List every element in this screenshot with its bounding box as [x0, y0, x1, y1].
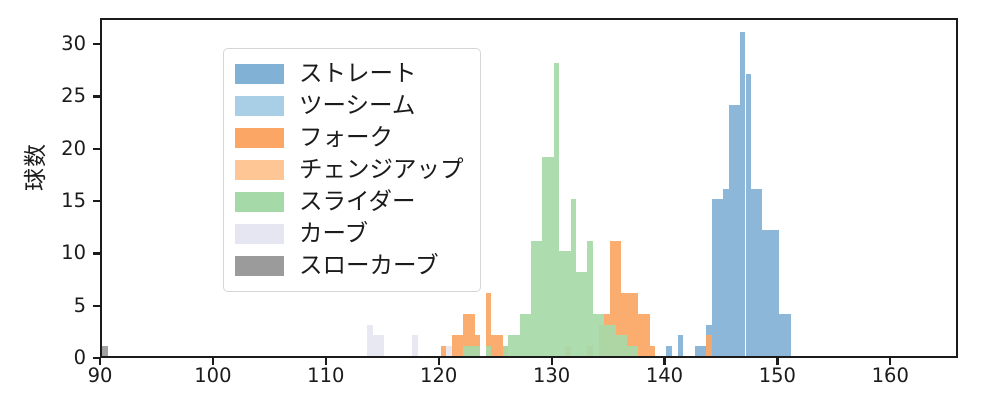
x-axis-tick-label: 110: [286, 366, 366, 386]
legend-color-swatch: [235, 192, 284, 212]
legend-color-swatch: [235, 128, 284, 148]
y-axis-tick-label: 0: [0, 348, 86, 368]
legend-item-label: フォーク: [299, 126, 393, 150]
y-axis-tick-label: 25: [0, 86, 86, 106]
legend-color-swatch: [235, 256, 284, 276]
legend-item[interactable]: フォーク: [235, 122, 464, 154]
x-axis-tick-mark: [663, 358, 665, 365]
x-axis-tick-label: 150: [737, 366, 817, 386]
y-axis-tick-mark: [93, 95, 100, 97]
plot-area: ストレートツーシームフォークチェンジアップスライダーカーブスローカーブ: [100, 18, 958, 358]
legend-item-label: ストレート: [299, 62, 417, 86]
legend-item-label: カーブ: [299, 222, 368, 246]
histogram-bar: [706, 335, 712, 356]
histogram-bar: [379, 335, 385, 356]
legend-item[interactable]: ツーシーム: [235, 90, 464, 122]
x-axis-tick-mark: [438, 358, 440, 365]
histogram-bar: [412, 335, 418, 356]
legend-item[interactable]: カーブ: [235, 218, 464, 250]
y-axis-tick-label: 10: [0, 243, 86, 263]
x-axis-tick-label: 130: [512, 366, 592, 386]
histogram-bar: [650, 346, 656, 356]
legend-item-label: チェンジアップ: [299, 158, 464, 182]
histogram-bar: [446, 346, 452, 356]
legend-item[interactable]: スライダー: [235, 186, 464, 218]
legend-color-swatch: [235, 224, 284, 244]
y-axis-tick-mark: [93, 148, 100, 150]
legend: ストレートツーシームフォークチェンジアップスライダーカーブスローカーブ: [223, 48, 481, 292]
histogram-bar: [102, 346, 108, 356]
legend-item-label: スライダー: [299, 190, 416, 214]
x-axis-tick-label: 160: [850, 366, 930, 386]
x-axis-tick-mark: [551, 358, 553, 365]
y-axis-tick-mark: [93, 43, 100, 45]
x-axis-tick-mark: [889, 358, 891, 365]
legend-color-swatch: [235, 96, 284, 116]
histogram-bar: [678, 335, 684, 356]
histogram-bar: [475, 346, 481, 356]
y-axis-tick-mark: [93, 252, 100, 254]
histogram-chart: 球数 051015202530 90100110120130140150160 …: [0, 0, 1000, 400]
legend-color-swatch: [235, 64, 284, 84]
x-axis-tick-mark: [325, 358, 327, 365]
legend-item[interactable]: チェンジアップ: [235, 154, 464, 186]
histogram-bar: [486, 346, 492, 356]
y-axis-tick-mark: [93, 200, 100, 202]
x-axis-tick-label: 140: [624, 366, 704, 386]
y-axis-tick-label: 20: [0, 139, 86, 159]
y-axis-tick-mark: [93, 305, 100, 307]
x-axis-tick-mark: [212, 358, 214, 365]
legend-item[interactable]: スローカーブ: [235, 250, 464, 282]
x-axis-tick-mark: [776, 358, 778, 365]
x-axis-tick-label: 100: [173, 366, 253, 386]
histogram-bar: [785, 314, 791, 356]
y-axis-tick-label: 15: [0, 191, 86, 211]
x-axis-tick-label: 120: [399, 366, 479, 386]
y-axis-tick-label: 5: [0, 296, 86, 316]
legend-item-label: ツーシーム: [299, 94, 415, 118]
legend-item[interactable]: ストレート: [235, 58, 464, 90]
legend-item-label: スローカーブ: [299, 254, 439, 278]
histogram-bar: [633, 346, 639, 356]
x-axis-tick-label: 90: [60, 366, 140, 386]
x-axis-tick-mark: [99, 358, 101, 365]
histogram-bar: [666, 346, 672, 356]
legend-color-swatch: [235, 160, 284, 180]
y-axis-tick-label: 30: [0, 34, 86, 54]
